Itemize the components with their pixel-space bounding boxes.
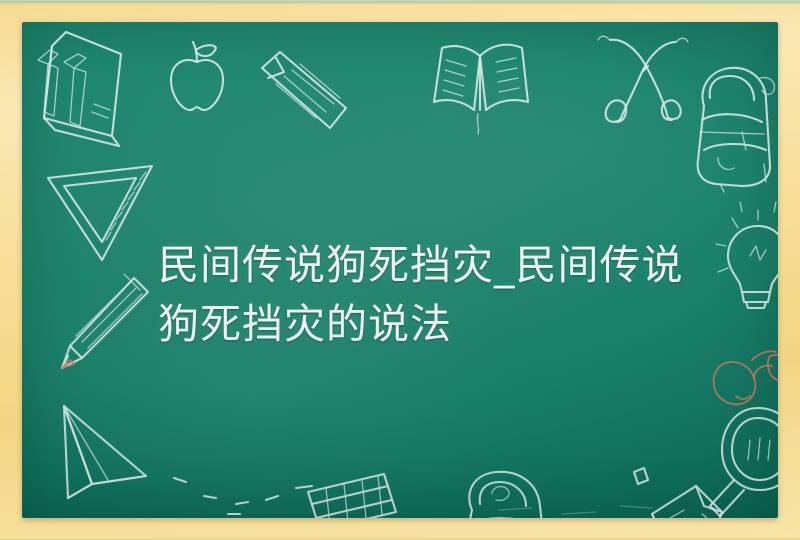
chalk-dash-trail [170,470,350,518]
open-book-icon [422,30,542,140]
eraser-icon [250,44,360,144]
film-strip-icon [304,470,414,518]
paper-plane-icon [50,388,180,518]
backpack-icon [680,54,778,194]
apple-icon [162,38,232,118]
triangle-ruler-icon [36,150,176,280]
scissors-icon [580,26,710,146]
chalkboard-surface: 民间传说狗死挡灾_民间传说狗死挡灾的说法 [22,22,778,518]
lightbulb-icon [708,198,778,318]
backpack-bottom-icon [442,462,572,518]
article-title-banner: 民间传说狗死挡灾_民间传说狗死挡灾的说法 [0,0,800,540]
chalk-smudge [492,484,682,518]
books-icon [22,22,140,153]
magnifier-icon [706,402,778,518]
pencil-icon [48,272,158,382]
paperclip-icon [618,452,738,518]
cherry-icon [708,340,778,420]
page-title: 民间传说狗死挡灾_民间传说狗死挡灾的说法 [158,236,718,354]
frame-top-edge [0,0,800,4]
